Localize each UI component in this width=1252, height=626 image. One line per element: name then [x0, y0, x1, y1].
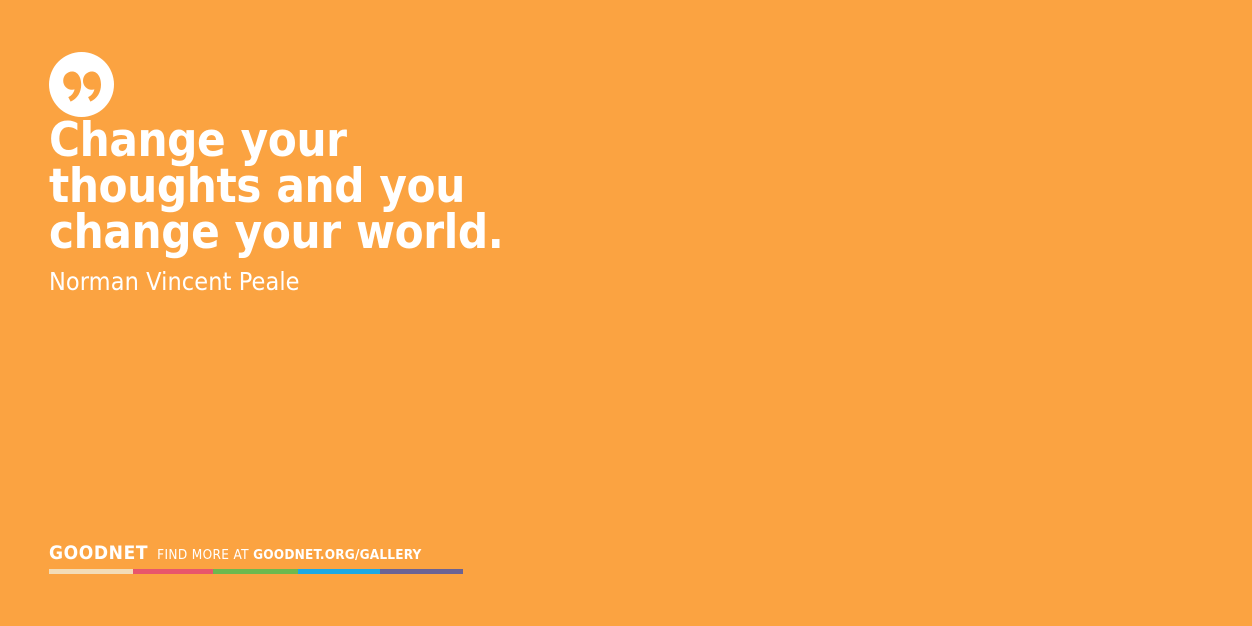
color-bar-segment-cream — [49, 569, 133, 574]
quote-author: Norman Vincent Peale — [49, 268, 689, 296]
footer-row: GOODNET FIND MORE AT GOODNET.ORG/GALLERY — [49, 544, 509, 563]
goodnet-logo: GOODNET — [49, 544, 148, 563]
footer-url[interactable]: GOODNET.ORG/GALLERY — [253, 547, 421, 563]
quote-card: Change your thoughts and you change your… — [0, 0, 1252, 626]
quote-text: Change your thoughts and you change your… — [49, 118, 519, 256]
footer-tagline: FIND MORE AT GOODNET.ORG/GALLERY — [157, 548, 421, 562]
color-bar-segment-red — [133, 569, 213, 574]
color-bar-segment-blue — [298, 569, 380, 574]
quote-body: Change your thoughts and you change your… — [49, 118, 689, 296]
color-bar-segment-purple — [380, 569, 463, 574]
color-bar-segment-green — [213, 569, 298, 574]
footer: GOODNET FIND MORE AT GOODNET.ORG/GALLERY — [49, 544, 509, 574]
footer-tagline-prefix: FIND MORE AT — [157, 547, 249, 563]
quote-open-icon — [49, 52, 114, 117]
brand-color-bar — [49, 569, 463, 574]
